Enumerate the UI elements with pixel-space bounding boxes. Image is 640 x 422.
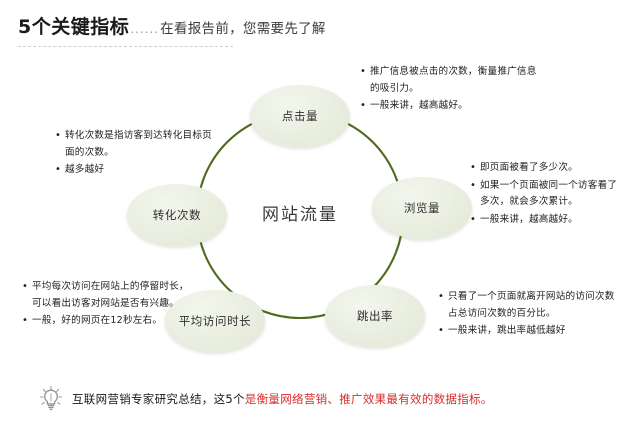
diagram-center-label: 网站流量: [232, 200, 368, 225]
footer-text: 互联网营销专家研究总结，这5个是衡量网络营销、推广效果最有效的数据指标。: [72, 391, 493, 407]
title-subtitle: 在看报告前，您需要先了解: [160, 17, 326, 37]
note-click-count: 推广信息被点击的次数，衡量推广信息的吸引力。 一般来讲，越高越好。: [360, 64, 540, 116]
note-bullet: 即页面被看了多少次。: [470, 160, 620, 177]
node-label: 浏览量: [404, 200, 440, 216]
node-label: 跳出率: [357, 308, 393, 324]
note-bullet: 一般，好的网页在12秒左右。: [22, 313, 190, 330]
lightbulb-icon: [36, 384, 66, 414]
footer-text-plain: 互联网营销专家研究总结，这5个: [72, 392, 245, 406]
node-bounce-rate[interactable]: 跳出率: [325, 285, 425, 347]
note-bullet: 越多越好: [55, 162, 215, 179]
note-bullet: 只看了一个页面就离开网站的访问次数占总访问次数的百分比。: [438, 289, 620, 322]
note-pageviews: 即页面被看了多少次。 如果一个页面被同一个访客看了多次，就会多次累计。 一般来讲…: [470, 160, 620, 229]
note-bullet: 一般来讲，越高越好。: [360, 98, 540, 115]
node-click-count[interactable]: 点击量: [250, 85, 350, 147]
node-pageviews[interactable]: 浏览量: [372, 177, 472, 239]
page-title: 5个关键指标 ...... 在看报告前，您需要先了解: [18, 12, 618, 38]
title-divider: [18, 46, 233, 47]
slide-canvas: 5个关键指标 ...... 在看报告前，您需要先了解 网站流量 点击量 浏览量 …: [0, 0, 640, 422]
note-conversions: 转化次数是指访客到达转化目标页面的次数。 越多越好: [55, 128, 215, 180]
title-main: 5个关键指标: [18, 12, 129, 39]
footer-text-highlight: 是衡量网络营销、推广效果最有效的数据指标。: [245, 392, 493, 406]
node-conversions[interactable]: 转化次数: [127, 184, 227, 246]
note-bullet: 推广信息被点击的次数，衡量推广信息的吸引力。: [360, 64, 540, 97]
footer-note: 互联网营销专家研究总结，这5个是衡量网络营销、推广效果最有效的数据指标。: [36, 383, 616, 415]
title-dots: ......: [130, 22, 159, 36]
note-bullet: 一般来讲，跳出率越低越好: [438, 323, 620, 340]
node-label: 点击量: [282, 108, 318, 124]
note-avg-duration: 平均每次访问在网站上的停留时长，可以看出访客对网站是否有兴趣。 一般，好的网页在…: [22, 279, 190, 331]
node-label: 转化次数: [153, 207, 201, 223]
note-bounce-rate: 只看了一个页面就离开网站的访问次数占总访问次数的百分比。 一般来讲，跳出率越低越…: [438, 289, 620, 341]
note-bullet: 转化次数是指访客到达转化目标页面的次数。: [55, 128, 215, 161]
note-bullet: 平均每次访问在网站上的停留时长，可以看出访客对网站是否有兴趣。: [22, 279, 190, 312]
note-bullet: 一般来讲，越高越好。: [470, 212, 620, 229]
note-bullet: 如果一个页面被同一个访客看了多次，就会多次累计。: [470, 178, 620, 211]
